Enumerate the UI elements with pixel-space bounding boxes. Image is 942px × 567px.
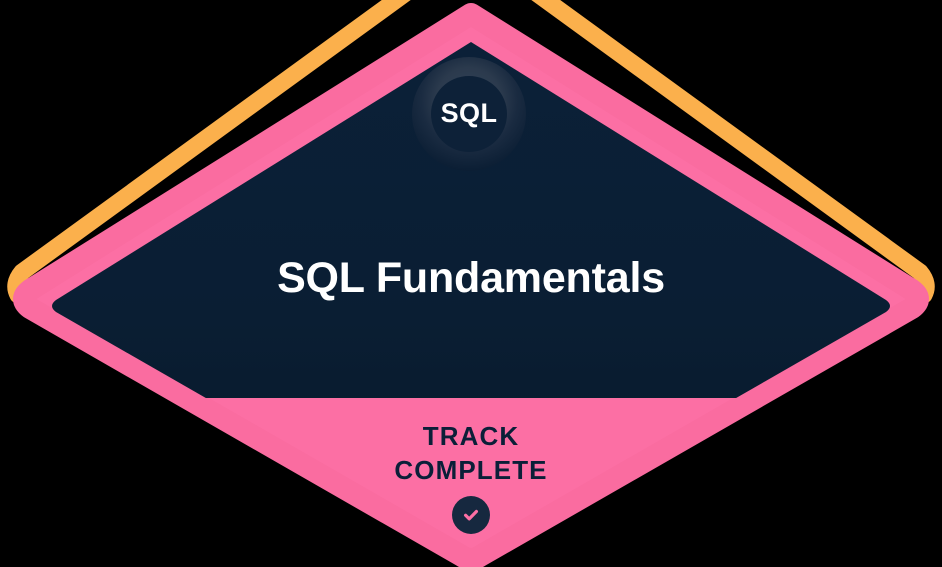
sql-emblem-center xyxy=(431,76,507,152)
track-badge-card: SQL SQL Fundamentals TRACK COMPLETE xyxy=(0,0,942,567)
badge-shape-graphic xyxy=(0,0,942,567)
